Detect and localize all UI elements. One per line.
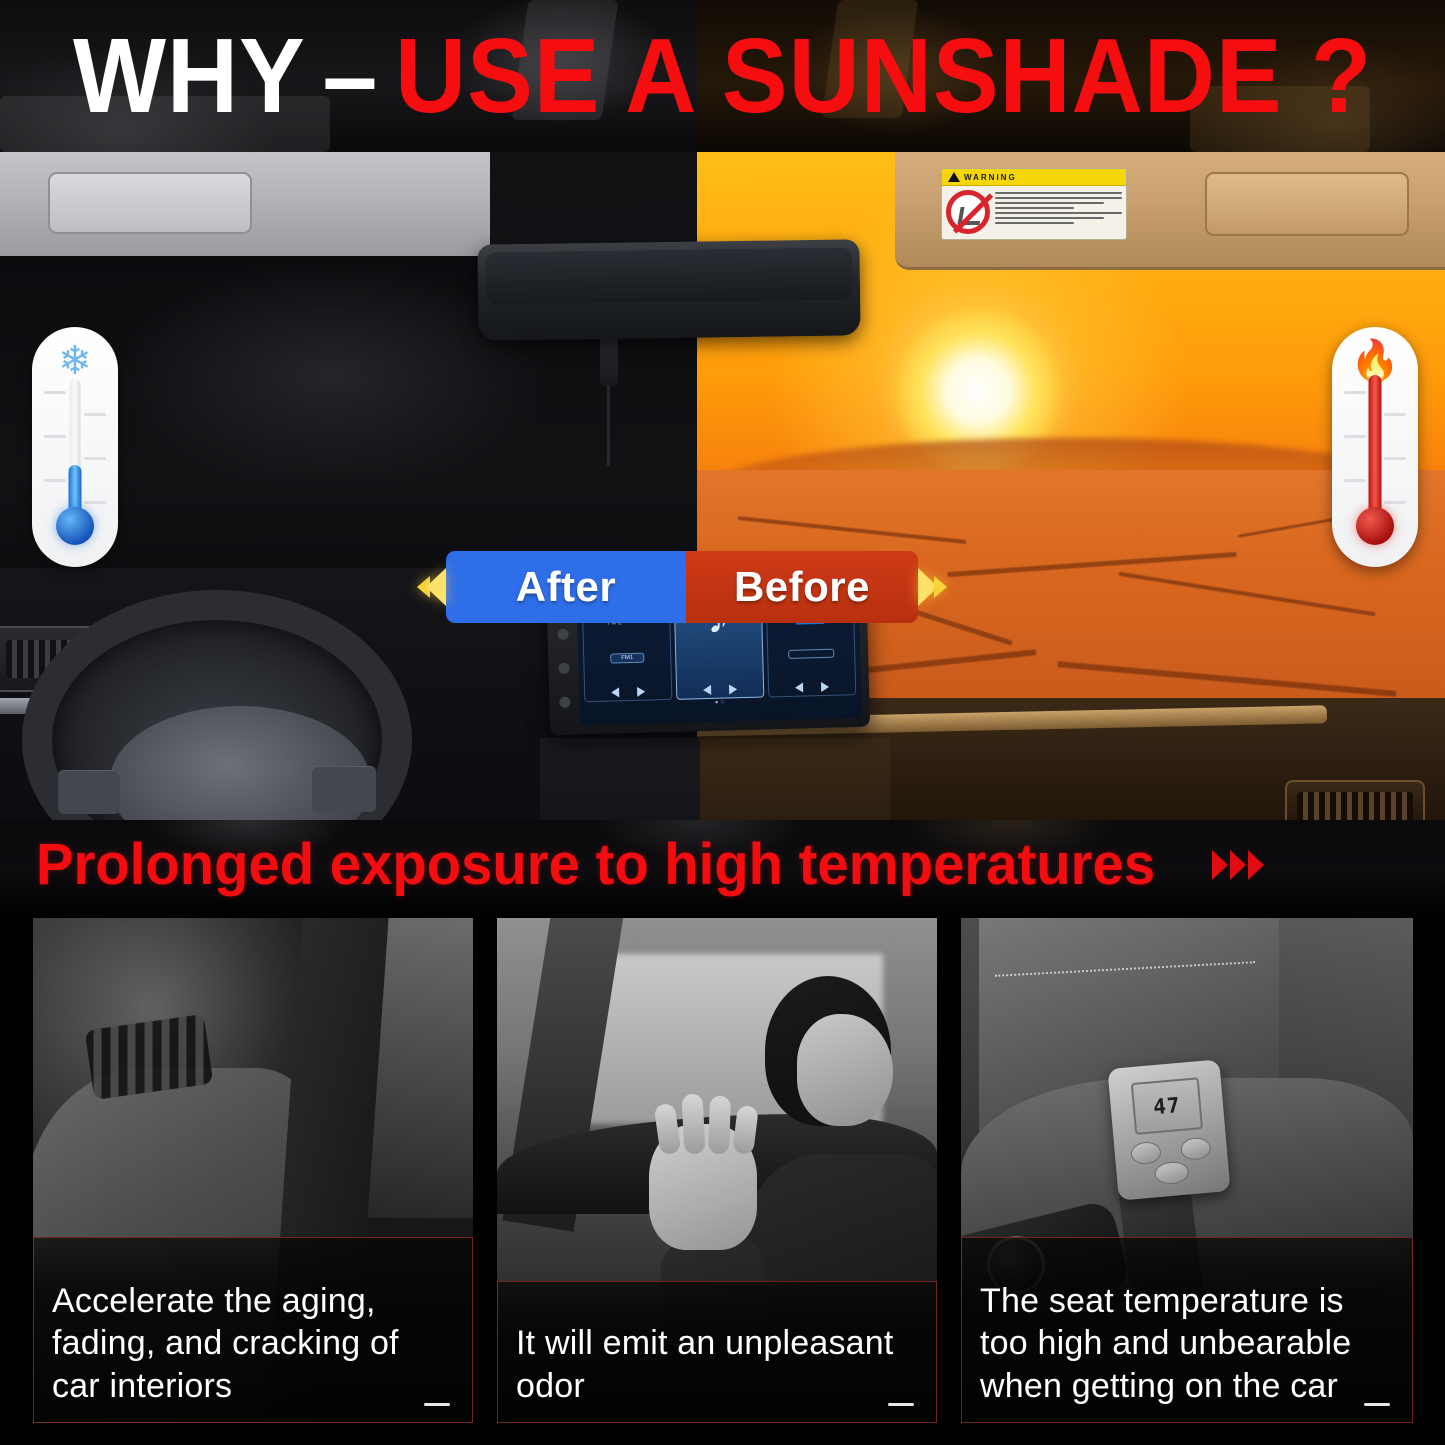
- phone-next-icon[interactable]: [821, 682, 829, 692]
- snowflake-icon: ❄: [32, 341, 118, 381]
- panel-caption: The seat temperature is too high and unb…: [980, 1280, 1394, 1408]
- cold-thermometer-bulb: [56, 507, 94, 545]
- radio-prev-icon[interactable]: [611, 687, 619, 697]
- consequence-panels: ⚡ Accelerate the aging, fading, and crac…: [0, 918, 1445, 1445]
- caption-underscore: [424, 1403, 450, 1406]
- hot-thermometer: 🔥: [1332, 327, 1418, 567]
- phone-controls[interactable]: [795, 682, 829, 693]
- mid-banner: Prolonged exposure to high temperatures: [0, 820, 1445, 918]
- chevron-right-icon: [1248, 850, 1264, 880]
- chevron-left-large-icon: [426, 568, 446, 606]
- cold-thermometer: ❄: [32, 327, 118, 567]
- panel-caption: It will emit an unpleasant odor: [516, 1322, 918, 1408]
- before-after-badge-group: After Before: [417, 546, 972, 628]
- phone-contact-bar[interactable]: [788, 648, 834, 658]
- chevron-right-small-icon: [934, 576, 947, 598]
- sun-visor-right: WARNING: [895, 138, 1445, 270]
- chevron-right-icon: [1212, 850, 1228, 880]
- head-unit-button-volume[interactable]: [558, 662, 569, 673]
- hot-seat-panel: 47 ⚡ The se: [961, 918, 1413, 1423]
- before-after-scene: WARNING: [0, 138, 1445, 913]
- airbag-warning-label: WARNING: [941, 168, 1127, 240]
- mid-banner-content: Prolonged exposure to high temperatures: [36, 836, 1264, 894]
- caption-box: It will emit an unpleasant odor: [497, 1281, 937, 1423]
- warning-label-title: WARNING: [964, 173, 1017, 182]
- media-prev-icon[interactable]: [703, 685, 711, 695]
- phone-prev-icon[interactable]: [795, 683, 803, 693]
- hot-thermometer-fill: [1369, 375, 1382, 523]
- head-unit-button-menu[interactable]: [557, 628, 568, 639]
- unpleasant-odor-panel: ⚡ It will emit an unpleasant odor: [497, 918, 937, 1423]
- steering-button-left: [58, 770, 120, 814]
- media-controls[interactable]: [703, 684, 737, 695]
- after-badge[interactable]: After: [446, 551, 686, 623]
- right-arrows: [918, 568, 947, 606]
- thermometer-display: 47: [1131, 1077, 1203, 1135]
- no-rear-facing-child-seat-icon: [946, 190, 990, 234]
- interior-aging-panel: ⚡ Accelerate the aging, fading, and crac…: [33, 918, 473, 1423]
- title-word-why: WHY: [73, 23, 306, 129]
- caption-box: The seat temperature is too high and unb…: [961, 1237, 1413, 1423]
- caption-underscore: [1364, 1403, 1390, 1406]
- before-badge[interactable]: Before: [686, 551, 918, 623]
- hot-thermometer-bulb: [1356, 507, 1394, 545]
- title-dash: –: [306, 23, 395, 129]
- title-phrase-red: USE A SUNSHADE ?: [395, 23, 1372, 129]
- warning-label-text-lines: [995, 190, 1122, 234]
- radio-controls[interactable]: [611, 687, 645, 698]
- left-arrows: [417, 568, 446, 606]
- mid-banner-chevrons: [1212, 850, 1264, 880]
- radio-next-icon[interactable]: [637, 687, 645, 697]
- rearview-mirror: [477, 239, 860, 340]
- warning-label-body: [942, 186, 1126, 238]
- page-title: WHY – USE A SUNSHADE ?: [51, 0, 1395, 152]
- warning-triangle-icon: [948, 172, 960, 182]
- chevron-right-icon: [1230, 850, 1246, 880]
- radio-preset[interactable]: FM1: [610, 653, 644, 664]
- thermometer-reading: 47: [1152, 1093, 1181, 1119]
- warning-label-header: WARNING: [942, 169, 1126, 186]
- media-next-icon[interactable]: [729, 684, 737, 694]
- infrared-thermometer-gun: 47: [1107, 1059, 1230, 1200]
- sun-visor-left: [0, 138, 490, 266]
- thermometer-buttons: [1130, 1136, 1214, 1187]
- head-unit-button-home[interactable]: [559, 696, 570, 707]
- header-banner: WHY – USE A SUNSHADE ?: [0, 0, 1445, 152]
- sunshade-product-infographic: WHY – USE A SUNSHADE ?: [0, 0, 1445, 1445]
- panel-caption: Accelerate the aging, fading, and cracki…: [52, 1280, 454, 1408]
- steering-button-right: [312, 766, 376, 812]
- caption-underscore: [888, 1403, 914, 1406]
- caption-box: Accelerate the aging, fading, and cracki…: [33, 1237, 473, 1423]
- mid-banner-text: Prolonged exposure to high temperatures: [36, 836, 1155, 894]
